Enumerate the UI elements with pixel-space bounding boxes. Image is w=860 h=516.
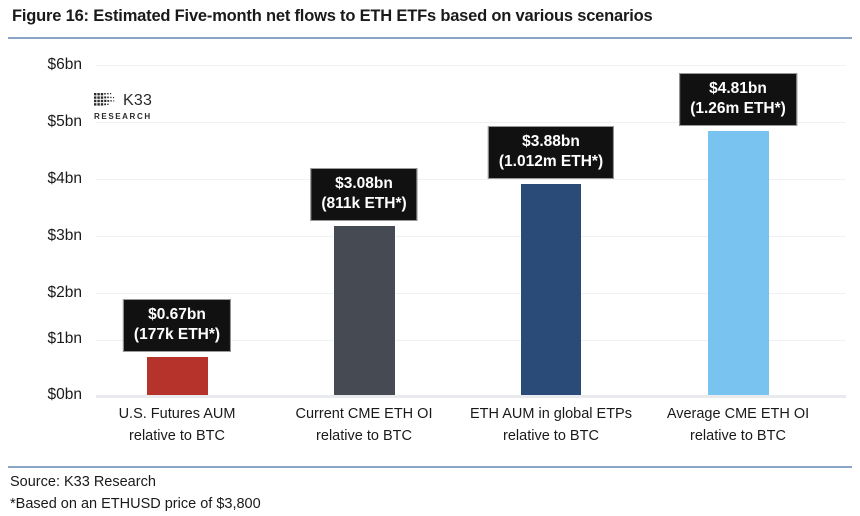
x-label-line1: Average CME ETH OI: [667, 404, 809, 426]
footer-note: *Based on an ETHUSD price of $3,800: [10, 494, 261, 516]
x-label-line1: Current CME ETH OI: [296, 404, 433, 426]
x-label-us-futures-aum: U.S. Futures AUM relative to BTC: [119, 404, 236, 448]
figure-container: Figure 16: Estimated Five-month net flow…: [0, 0, 860, 516]
y-tick-4bn: $4bn: [10, 170, 82, 188]
y-axis: $6bn $5bn $4bn $3bn $2bn $1bn $0bn: [10, 40, 82, 460]
y-tick-6bn: $6bn: [10, 56, 82, 74]
bar-eth-aum-global-etps: [521, 184, 581, 395]
x-label-current-cme-eth-oi: Current CME ETH OI relative to BTC: [296, 404, 433, 448]
x-label-eth-aum-global-etps: ETH AUM in global ETPs relative to BTC: [470, 404, 632, 448]
gridline-6bn: [96, 65, 846, 66]
x-label-line2: relative to BTC: [667, 426, 809, 448]
x-label-line2: relative to BTC: [296, 426, 433, 448]
logo-subtitle: RESEARCH: [94, 112, 180, 121]
data-label-current-cme-eth-oi: $3.08bn (811k ETH*): [310, 168, 417, 221]
bar-us-futures-aum: [147, 357, 208, 395]
data-label-value: $3.88bn: [522, 133, 580, 150]
k33-dot-matrix-icon: [94, 93, 120, 108]
plot-area: $6bn $5bn $4bn $3bn $2bn $1bn $0bn K33: [0, 40, 860, 460]
y-tick-0bn: $0bn: [10, 386, 82, 404]
x-label-line2: relative to BTC: [119, 426, 236, 448]
axis-baseline: [96, 395, 846, 398]
footer-source: Source: K33 Research: [10, 472, 261, 494]
title-block: Figure 16: Estimated Five-month net flow…: [0, 0, 860, 40]
footer-divider: [8, 466, 852, 468]
logo-wordmark: K33: [123, 93, 152, 109]
x-label-line1: U.S. Futures AUM: [119, 404, 236, 426]
footer-block: Source: K33 Research *Based on an ETHUSD…: [10, 472, 261, 516]
data-label-us-futures-aum: $0.67bn (177k ETH*): [123, 299, 231, 352]
y-tick-5bn: $5bn: [10, 113, 82, 131]
data-label-value: $3.08bn: [335, 175, 393, 192]
page-title: Figure 16: Estimated Five-month net flow…: [12, 7, 652, 26]
data-label-eth: (1.26m ETH*): [690, 99, 786, 119]
data-label-average-cme-eth-oi: $4.81bn (1.26m ETH*): [679, 73, 797, 126]
data-label-eth: (811k ETH*): [321, 194, 406, 214]
x-label-line1: ETH AUM in global ETPs: [470, 404, 632, 426]
k33-research-logo: K33 RESEARCH: [94, 92, 180, 122]
data-label-eth-aum-global-etps: $3.88bn (1.012m ETH*): [488, 126, 614, 179]
data-label-value: $0.67bn: [148, 306, 206, 323]
y-tick-3bn: $3bn: [10, 227, 82, 245]
x-label-average-cme-eth-oi: Average CME ETH OI relative to BTC: [667, 404, 809, 448]
x-label-line2: relative to BTC: [470, 426, 632, 448]
data-label-eth: (177k ETH*): [134, 325, 220, 345]
y-tick-1bn: $1bn: [10, 330, 82, 348]
data-label-eth: (1.012m ETH*): [499, 152, 603, 172]
y-tick-2bn: $2bn: [10, 284, 82, 302]
title-divider: [8, 37, 852, 39]
data-label-value: $4.81bn: [709, 80, 767, 97]
bar-current-cme-eth-oi: [334, 226, 395, 395]
bar-average-cme-eth-oi: [708, 131, 769, 395]
